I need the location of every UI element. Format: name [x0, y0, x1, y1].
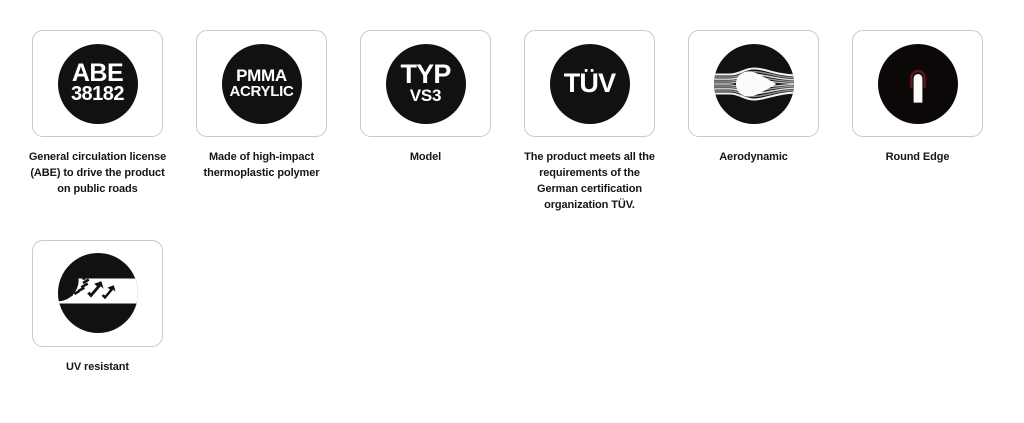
badge-row-secondary: UV resistant — [0, 240, 1024, 376]
badge-item-abe[interactable]: ABE 38182 General circulation license (A… — [32, 30, 163, 198]
abe-disc-sub-text: 38182 — [71, 85, 124, 105]
badge-grid: ABE 38182 General circulation license (A… — [0, 0, 1024, 423]
abe-approval-disc-icon: ABE 38182 — [58, 44, 138, 124]
pmma-acrylic-disc-icon: PMMA ACRYLIC — [222, 44, 302, 124]
pmma-disc-main-text: PMMA — [236, 67, 287, 84]
aerodynamic-airfoil-streamlines-icon — [714, 44, 794, 124]
tuv-disc-main-text: TÜV — [564, 70, 616, 97]
badge-card-tuv[interactable]: TÜV — [524, 30, 655, 137]
badge-caption-round-edge: Round Edge — [847, 150, 989, 166]
abe-disc-main-text: ABE — [72, 62, 123, 85]
badge-caption-abe: General circulation license (ABE) to dri… — [27, 150, 169, 198]
badge-card-aerodynamic[interactable] — [688, 30, 819, 137]
badge-caption-tuv: The product meets all the requirements o… — [519, 150, 661, 214]
badge-card-typ[interactable]: TYP VS3 — [360, 30, 491, 137]
badge-caption-uv-resistant: UV resistant — [27, 360, 169, 376]
badge-item-round-edge[interactable]: Round Edge — [852, 30, 983, 166]
badge-item-typ[interactable]: TYP VS3 Model — [360, 30, 491, 166]
round-edge-bar — [913, 74, 922, 103]
badge-row-primary: ABE 38182 General circulation license (A… — [0, 30, 1024, 214]
typ-disc-sub-text: VS3 — [410, 87, 442, 105]
badge-item-aerodynamic[interactable]: Aerodynamic — [688, 30, 819, 166]
badge-caption-aerodynamic: Aerodynamic — [683, 150, 825, 166]
badge-item-uv-resistant[interactable]: UV resistant — [32, 240, 163, 376]
badge-card-pmma[interactable]: PMMA ACRYLIC — [196, 30, 327, 137]
badge-item-pmma[interactable]: PMMA ACRYLIC Made of high-impact thermop… — [196, 30, 327, 182]
uv-resistant-sun-arrows-icon — [58, 253, 138, 333]
badge-item-tuv[interactable]: TÜV The product meets all the requiremen… — [524, 30, 655, 214]
badge-card-abe[interactable]: ABE 38182 — [32, 30, 163, 137]
round-edge-profile-icon — [878, 44, 958, 124]
badge-card-round-edge[interactable] — [852, 30, 983, 137]
badge-caption-typ: Model — [355, 150, 497, 166]
typ-model-disc-icon: TYP VS3 — [386, 44, 466, 124]
badge-caption-pmma: Made of high-impact thermoplastic polyme… — [191, 150, 333, 182]
pmma-disc-sub-text: ACRYLIC — [229, 84, 293, 100]
tuv-certification-disc-icon: TÜV — [550, 44, 630, 124]
typ-disc-main-text: TYP — [400, 62, 450, 86]
badge-card-uv-resistant[interactable] — [32, 240, 163, 347]
